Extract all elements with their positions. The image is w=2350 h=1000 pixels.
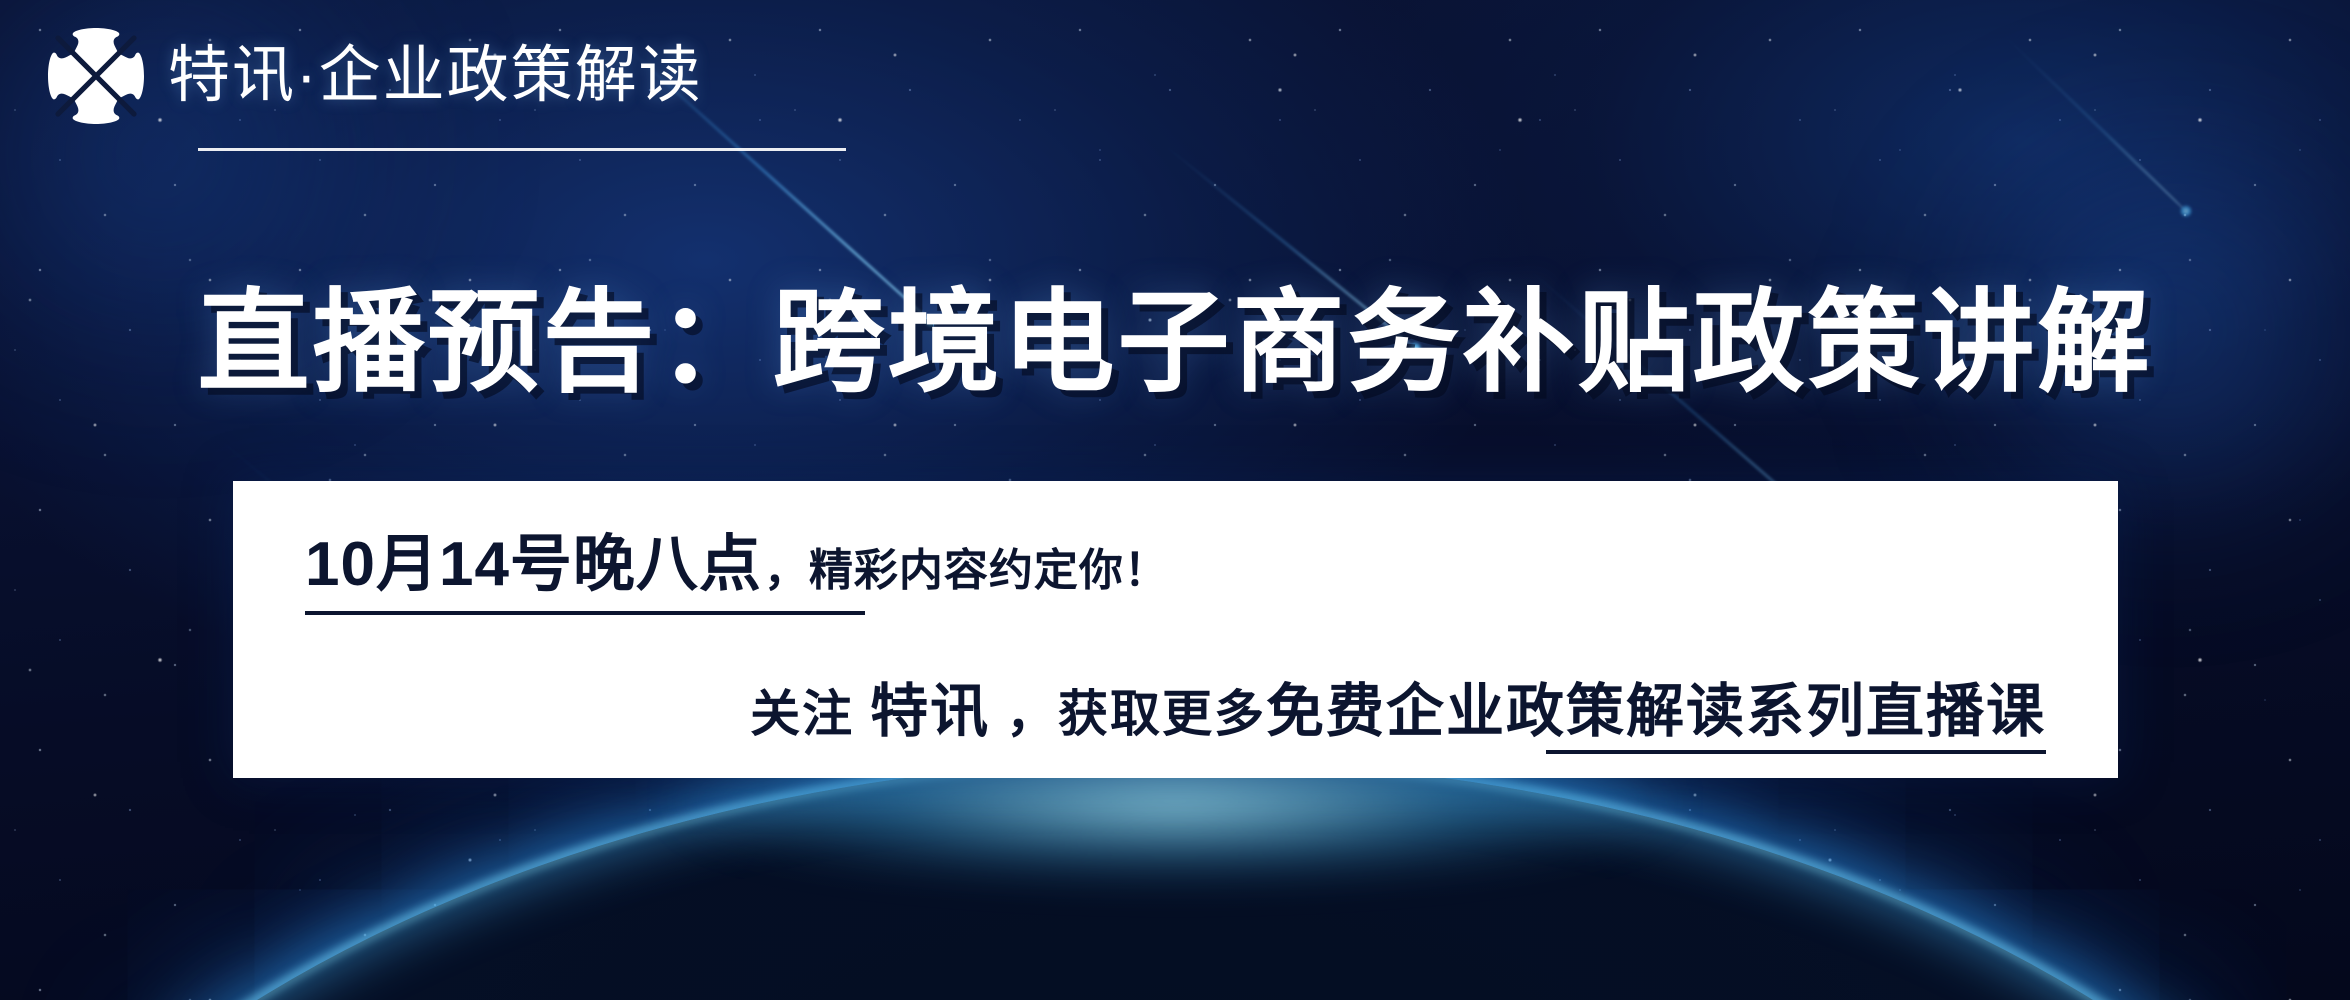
- follow-middle: ，获取更多: [990, 686, 1266, 742]
- meteor-streak-icon: [1999, 30, 2188, 213]
- schedule-datetime: 10月14号晚八点: [305, 530, 762, 599]
- follow-emphasis: 免费企业政策解读系列直播课: [1266, 679, 2046, 744]
- meteor-head-icon: [2177, 202, 2195, 220]
- four-petal-clover-logo-icon: [38, 18, 154, 134]
- divider-bottom: [1546, 750, 2046, 754]
- schedule-tagline: ，精彩内容约定你！: [764, 546, 1169, 595]
- planet-rim-light: [0, 756, 2350, 1000]
- planet-horizon-graphic: [0, 760, 2350, 1000]
- follow-brand-name: 特讯: [870, 679, 990, 744]
- schedule-line: 10月14号晚八点，精彩内容约定你！: [305, 513, 1169, 603]
- live-stream-announcement-poster: 特讯·企业政策解读 直播预告：跨境电子商务补贴政策讲解 10月14号晚八点，精彩…: [0, 0, 2350, 1000]
- divider-top: [305, 611, 865, 615]
- planet-body: [0, 760, 2350, 1000]
- brand-name: 特讯·企业政策解读: [168, 45, 703, 107]
- brand-row: 特讯·企业政策解读: [38, 18, 703, 134]
- page-title: 直播预告：跨境电子商务补贴政策讲解: [0, 252, 2350, 414]
- info-panel: 10月14号晚八点，精彩内容约定你！ 关注 特讯 ，获取更多免费企业政策解读系列…: [233, 481, 2118, 778]
- brand-header: 特讯·企业政策解读: [38, 18, 846, 151]
- follow-prefix: 关注: [750, 686, 870, 742]
- follow-call-to-action: 关注 特讯 ，获取更多免费企业政策解读系列直播课: [233, 664, 2046, 748]
- brand-underline: [198, 148, 846, 151]
